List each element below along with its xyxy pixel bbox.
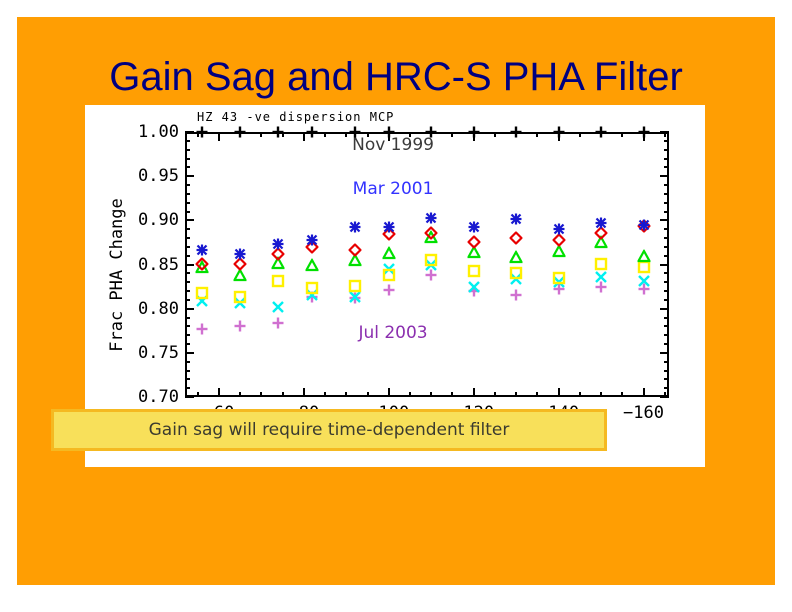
axis-tick: [409, 392, 411, 397]
axis-tick: [664, 290, 669, 292]
axis-tick: [664, 211, 669, 213]
data-point-marker: [510, 267, 523, 280]
data-point-marker: [637, 126, 650, 139]
data-point-marker: [637, 218, 650, 231]
axis-tick: [664, 228, 669, 230]
data-point-marker: [382, 220, 395, 233]
axis-tick: [185, 299, 190, 301]
data-point-marker: [306, 126, 319, 139]
data-point-marker: [195, 257, 208, 270]
axis-tick: [185, 361, 190, 363]
data-point-marker: [595, 126, 608, 139]
chart-subtitle: HZ 43 -ve dispersion MCP: [197, 110, 394, 124]
axis-tick: [185, 308, 194, 310]
axis-tick: [185, 281, 190, 283]
axis-tick: [494, 132, 496, 137]
axis-tick: [303, 388, 305, 397]
axis-tick: [558, 388, 560, 397]
axis-tick: [185, 387, 190, 389]
axis-tick: [664, 281, 669, 283]
axis-tick: [451, 132, 453, 137]
data-point-marker: [306, 258, 319, 271]
caption-text: Gain sag will require time-dependent fil…: [149, 420, 510, 440]
y-tick-label: 0.85: [138, 255, 179, 275]
data-point-marker: [510, 288, 523, 301]
x-tick-label: −160: [623, 403, 664, 423]
data-point-marker: [510, 126, 523, 139]
axis-tick: [664, 246, 669, 248]
axis-tick: [660, 175, 669, 177]
axis-tick: [218, 132, 220, 141]
data-point-marker: [382, 269, 395, 282]
axis-tick: [185, 202, 190, 204]
data-point-marker: [272, 275, 285, 288]
data-point-marker: [348, 244, 361, 257]
axis-tick: [260, 132, 262, 137]
data-point-marker: [467, 264, 480, 277]
data-point-marker: [234, 291, 247, 304]
axis-tick: [185, 219, 194, 221]
data-point-marker: [467, 281, 480, 294]
data-point-marker: [595, 216, 608, 229]
axis-tick: [185, 290, 190, 292]
axis-tick: [660, 131, 669, 133]
axis-tick: [185, 255, 190, 257]
axis-tick: [664, 361, 669, 363]
axis-tick: [536, 392, 538, 397]
axis-tick: [664, 378, 669, 380]
page-title: Gain Sag and HRC-S PHA Filter: [17, 55, 775, 100]
data-point-marker: [348, 221, 361, 234]
axis-tick: [660, 219, 669, 221]
data-point-marker: [595, 270, 608, 283]
data-point-marker: [510, 213, 523, 226]
axis-tick: [185, 352, 194, 354]
axis-tick: [621, 392, 623, 397]
data-point-marker: [234, 269, 247, 282]
axis-tick: [579, 132, 581, 137]
data-point-marker: [306, 233, 319, 246]
axis-tick: [664, 343, 669, 345]
data-point-marker: [425, 254, 438, 267]
axis-tick: [303, 132, 305, 141]
data-point-marker: [272, 126, 285, 139]
axis-tick: [664, 158, 669, 160]
axis-tick: [185, 272, 190, 274]
data-point-marker: [425, 211, 438, 224]
data-point-marker: [272, 238, 285, 251]
data-point-marker: [467, 126, 480, 139]
data-point-marker: [552, 271, 565, 284]
axis-tick: [185, 378, 190, 380]
axis-tick: [664, 370, 669, 372]
y-tick-label: 0.75: [138, 343, 179, 363]
axis-tick: [324, 392, 326, 397]
data-point-marker: [272, 300, 285, 313]
axis-tick: [218, 388, 220, 397]
caption-box: Gain sag will require time-dependent fil…: [51, 409, 607, 451]
axis-tick: [388, 388, 390, 397]
axis-tick: [664, 202, 669, 204]
axis-tick: [185, 184, 190, 186]
axis-tick: [185, 246, 190, 248]
data-point-marker: [510, 232, 523, 245]
data-point-marker: [195, 322, 208, 335]
axis-tick: [185, 131, 194, 133]
axis-tick: [664, 193, 669, 195]
y-tick-label: 0.80: [138, 299, 179, 319]
data-point-marker: [637, 261, 650, 274]
y-tick-label: 1.00: [138, 122, 179, 142]
axis-tick: [185, 317, 190, 319]
axis-tick: [367, 392, 369, 397]
y-axis-title: Frac PHA Change: [107, 165, 127, 385]
axis-tick: [515, 392, 517, 397]
data-point-marker: [348, 279, 361, 292]
axis-tick: [664, 334, 669, 336]
axis-tick: [282, 392, 284, 397]
axis-tick: [239, 392, 241, 397]
y-tick-label: 0.70: [138, 387, 179, 407]
axis-tick: [643, 388, 645, 397]
axis-tick: [664, 184, 669, 186]
data-point-marker: [382, 284, 395, 297]
data-point-marker: [467, 236, 480, 249]
data-point-marker: [234, 247, 247, 260]
data-point-marker: [306, 282, 319, 295]
axis-tick: [185, 193, 190, 195]
data-point-marker: [552, 126, 565, 139]
axis-tick: [185, 166, 190, 168]
data-point-marker: [467, 221, 480, 234]
axis-tick: [579, 392, 581, 397]
axis-tick: [345, 132, 347, 137]
axis-tick: [660, 352, 669, 354]
data-point-marker: [195, 126, 208, 139]
axis-tick: [664, 140, 669, 142]
axis-tick: [185, 396, 194, 398]
data-point-marker: [552, 245, 565, 258]
axis-tick: [185, 158, 190, 160]
axis-tick: [621, 132, 623, 137]
axis-tick: [660, 264, 669, 266]
data-point-marker: [272, 316, 285, 329]
axis-tick: [185, 370, 190, 372]
axis-tick: [345, 392, 347, 397]
axis-tick: [473, 388, 475, 397]
y-tick-label: 0.95: [138, 166, 179, 186]
data-point-marker: [425, 126, 438, 139]
axis-tick: [185, 140, 190, 142]
slide-canvas: Gain Sag and HRC-S PHA Filter HZ 43 -ve …: [17, 17, 775, 585]
axis-tick: [600, 392, 602, 397]
axis-tick: [660, 308, 669, 310]
axis-tick: [185, 325, 190, 327]
axis-tick: [451, 392, 453, 397]
axis-tick: [664, 325, 669, 327]
data-point-marker: [195, 244, 208, 257]
axis-tick: [660, 396, 669, 398]
data-point-marker: [234, 320, 247, 333]
axis-tick: [664, 317, 669, 319]
data-point-marker: [510, 250, 523, 263]
data-point-marker: [637, 249, 650, 262]
axis-tick: [185, 211, 190, 213]
axis-tick: [664, 255, 669, 257]
axis-tick: [185, 264, 194, 266]
axis-tick: [664, 272, 669, 274]
y-tick-label: 0.90: [138, 210, 179, 230]
axis-tick: [197, 392, 199, 397]
data-point-marker: [425, 226, 438, 239]
data-point-marker: [348, 126, 361, 139]
axis-tick: [664, 237, 669, 239]
data-point-marker: [234, 126, 247, 139]
axis-tick: [185, 228, 190, 230]
data-point-marker: [382, 126, 395, 139]
data-point-marker: [595, 257, 608, 270]
data-point-marker: [552, 223, 565, 236]
data-point-marker: [348, 291, 361, 304]
axis-tick: [494, 392, 496, 397]
axis-tick: [185, 237, 190, 239]
axis-tick: [185, 343, 190, 345]
data-point-marker: [637, 275, 650, 288]
axis-tick: [536, 132, 538, 137]
axis-tick: [664, 149, 669, 151]
axis-tick: [430, 392, 432, 397]
axis-tick: [324, 132, 326, 137]
axis-tick: [185, 149, 190, 151]
axis-tick: [664, 299, 669, 301]
data-point-marker: [382, 247, 395, 260]
plot-annotation: Mar 2001: [353, 179, 434, 199]
plot-annotation: Jul 2003: [358, 323, 427, 343]
data-point-marker: [195, 286, 208, 299]
axis-tick: [185, 334, 190, 336]
axis-tick: [664, 166, 669, 168]
axis-tick: [260, 392, 262, 397]
axis-tick: [664, 387, 669, 389]
axis-tick: [185, 175, 194, 177]
